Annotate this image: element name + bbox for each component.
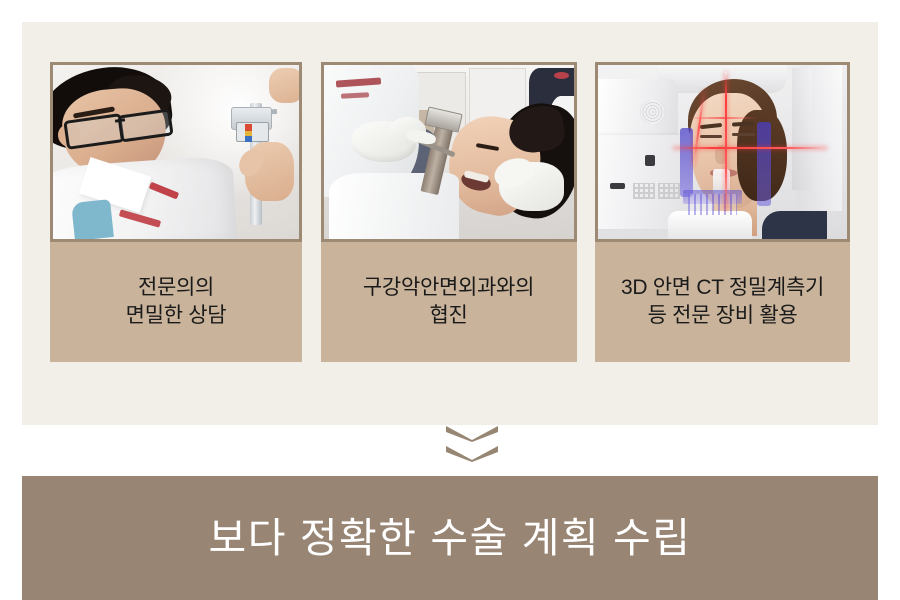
headline-banner: 보다 정확한 수술 계획 수립	[22, 476, 878, 600]
caption-line: 구강악안면외과와의	[363, 274, 534, 302]
feature-photo-cooperation	[321, 62, 577, 242]
caption-line: 3D 안면 CT 정밀계측기	[621, 274, 824, 302]
caption-line: 협진	[429, 302, 467, 330]
feature-photo-equipment	[595, 62, 850, 242]
photo-scene-doctor-caliper	[53, 65, 299, 239]
double-chevron-down-icon	[446, 426, 498, 464]
photo-scene-ct-scanner	[598, 65, 847, 239]
feature-card-equipment[interactable]: 3D 안면 CT 정밀계측기 등 전문 장비 활용	[595, 62, 850, 362]
caption-line: 전문의의	[138, 274, 214, 302]
promo-graphic: 전문의의 면밀한 상담	[0, 0, 900, 600]
feature-photo-consultation	[50, 62, 302, 242]
chevron-down-icon	[446, 426, 498, 442]
caption-line: 등 전문 장비 활용	[648, 302, 798, 330]
chevron-down-icon	[446, 446, 498, 462]
feature-card-consultation[interactable]: 전문의의 면밀한 상담	[50, 62, 302, 362]
feature-caption-cooperation: 구강악안면외과와의 협진	[321, 242, 577, 362]
feature-card-cooperation[interactable]: 구강악안면외과와의 협진	[321, 62, 577, 362]
caption-line: 면밀한 상담	[126, 302, 227, 330]
feature-cards-row: 전문의의 면밀한 상담	[50, 62, 850, 362]
headline-text: 보다 정확한 수술 계획 수립	[209, 518, 692, 559]
feature-caption-equipment: 3D 안면 CT 정밀계측기 등 전문 장비 활용	[595, 242, 850, 362]
feature-caption-consultation: 전문의의 면밀한 상담	[50, 242, 302, 362]
photo-scene-oral-surgery	[324, 65, 574, 239]
feature-panel: 전문의의 면밀한 상담	[22, 22, 878, 425]
